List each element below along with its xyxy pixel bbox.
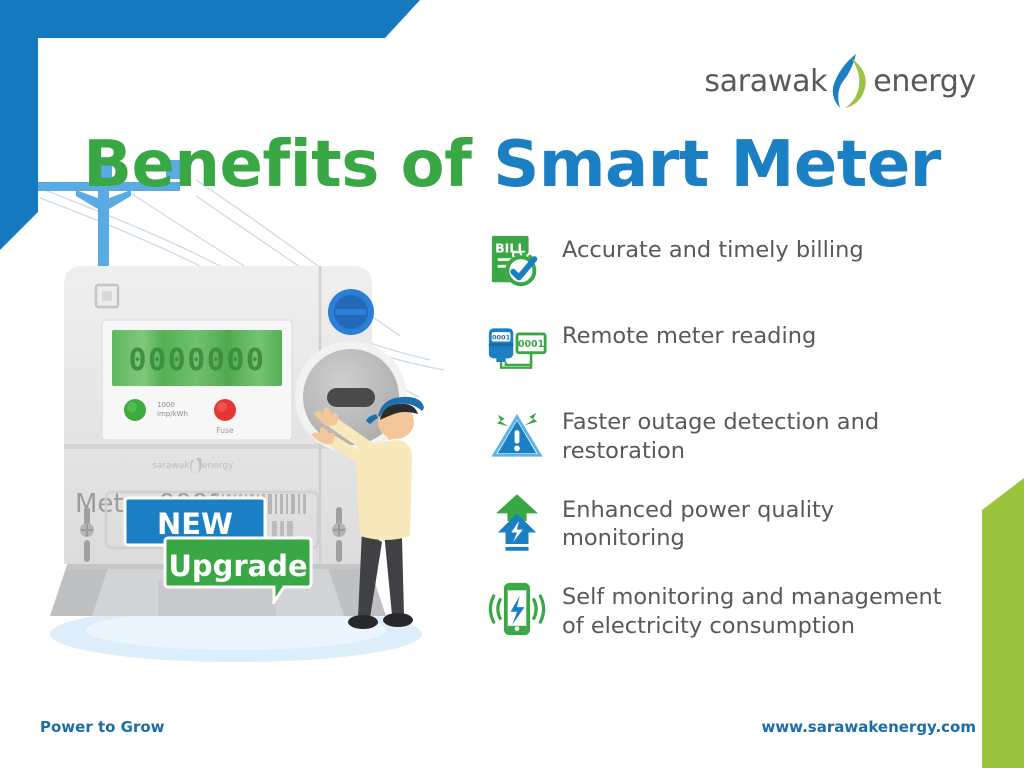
bill-check-icon: BILL: [484, 232, 550, 292]
remote-meter-digits: 0001: [492, 334, 511, 342]
meter-lcd-digits: 0000000: [129, 343, 266, 378]
logo-word-energy: energy: [873, 64, 976, 99]
title-part-green: Benefits of: [83, 128, 493, 202]
upgrade-bubble: Upgrade: [165, 538, 311, 602]
benefit-label: Enhanced power quality monitoring: [550, 492, 944, 554]
benefit-item-remote-reading: 0001 0001 Remote meter reading: [484, 318, 944, 378]
benefit-label: Remote meter reading: [550, 318, 816, 351]
smart-meter-illustration: 0000000 1000 imp/kWh Fuse sarawak energy…: [40, 262, 460, 672]
logo-word-sarawak: sarawak: [704, 64, 827, 99]
flame-icon: [828, 52, 872, 110]
sarawak-energy-logo: sarawak energy: [704, 52, 976, 110]
remote-screen-digits: 0001: [518, 339, 544, 350]
footer-tagline: Power to Grow: [40, 718, 165, 736]
led-green-label-bottom: imp/kWh: [157, 410, 188, 418]
benefit-item-power-quality: Enhanced power quality monitoring: [484, 492, 944, 554]
led-red-label: Fuse: [216, 426, 234, 435]
power-quality-up-icon: [484, 492, 550, 552]
benefit-label: Accurate and timely billing: [550, 232, 864, 265]
remote-meter-icon: 0001 0001: [484, 318, 550, 378]
benefit-label: Faster outage detection and restoration: [550, 404, 944, 466]
benefits-list: BILL Accurate and timely billing: [484, 232, 944, 663]
bottom-right-corner-accent: [982, 478, 1024, 768]
new-bubble-label: NEW: [157, 507, 233, 541]
promo-bubbles: NEW Upgrade: [122, 494, 332, 604]
smartphone-signal-icon: [484, 579, 550, 639]
benefit-item-billing: BILL Accurate and timely billing: [484, 232, 944, 292]
upgrade-bubble-label: Upgrade: [168, 549, 307, 583]
footer-website[interactable]: www.sarawakenergy.com: [761, 718, 976, 736]
benefit-item-self-monitoring: Self monitoring and management of electr…: [484, 579, 944, 641]
outage-warning-icon: [484, 404, 550, 464]
slide-canvas: 0000000 1000 imp/kWh Fuse sarawak energy…: [0, 0, 1024, 768]
led-green-label-top: 1000: [157, 401, 175, 409]
benefit-label: Self monitoring and management of electr…: [550, 579, 944, 641]
page-title: Benefits of Smart Meter: [0, 128, 1024, 202]
title-part-blue: Smart Meter: [493, 128, 941, 202]
benefit-item-outage: Faster outage detection and restoration: [484, 404, 944, 466]
